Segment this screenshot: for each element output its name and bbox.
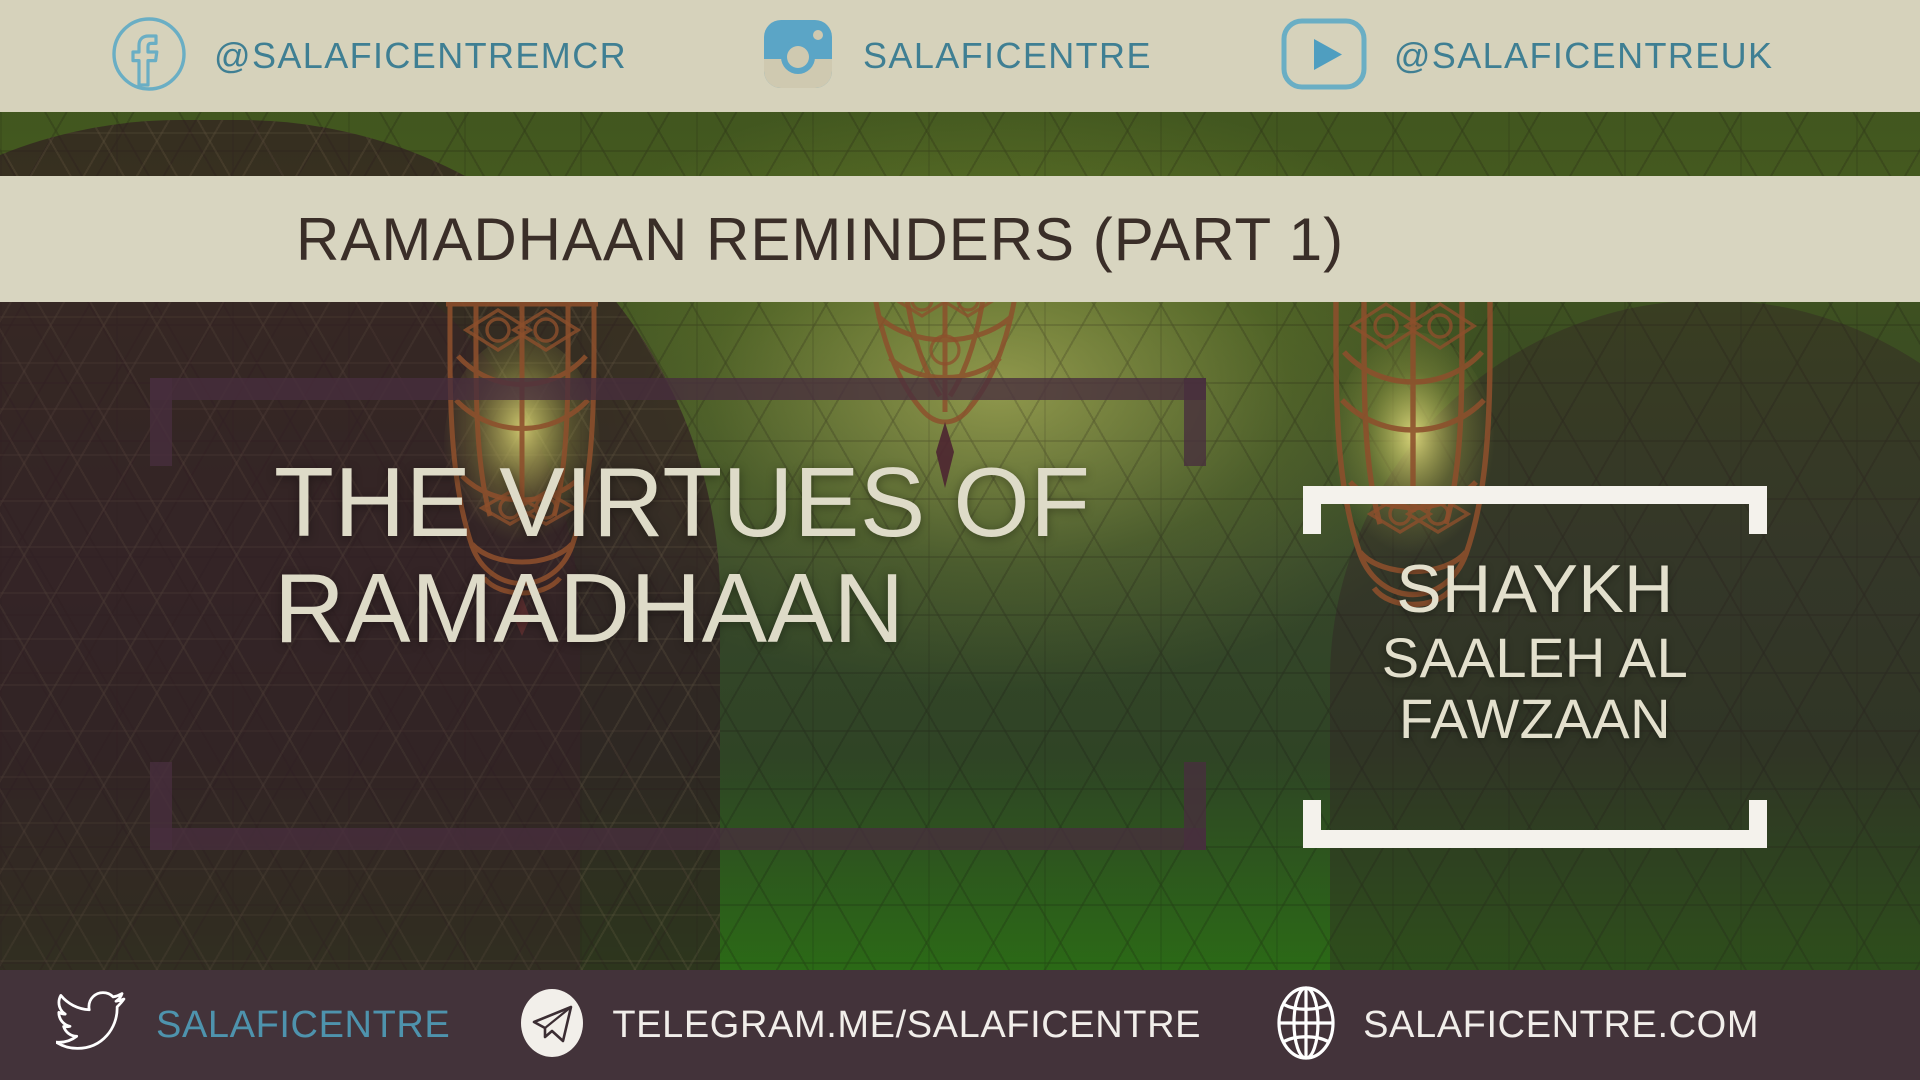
speaker-title-line: SHAYKH — [1303, 552, 1767, 627]
frame-bar-top — [150, 378, 1206, 400]
speaker-name: SHAYKH SAALEH AL FAWZAAN — [1303, 552, 1767, 750]
youtube-icon — [1280, 15, 1368, 98]
series-title-text: RAMADHAAN REMINDERS (PART 1) — [296, 205, 1344, 274]
main-title: THE VIRTUES OF RAMADHAAN — [274, 450, 1194, 662]
poster-canvas: @SALAFICENTREMCR SALAFICENTRE — [0, 0, 1920, 1080]
footer-bar: SALAFICENTRE TELEGRAM.ME/SALAFICENTRE — [0, 970, 1920, 1080]
main-title-line-1: THE VIRTUES OF — [274, 450, 1194, 556]
series-title-band: RAMADHAAN REMINDERS (PART 1) — [0, 176, 1920, 302]
facebook-icon — [110, 15, 188, 98]
website-url: SALAFICENTRE.COM — [1363, 1004, 1759, 1047]
speaker-frame-corner-top-right — [1749, 486, 1767, 534]
speaker-frame-bar-bottom — [1303, 830, 1767, 848]
globe-icon — [1273, 984, 1339, 1067]
frame-corner-bottom-right — [1184, 762, 1206, 850]
speaker-frame-corner-bottom-left — [1303, 800, 1321, 848]
social-header-bar: @SALAFICENTREMCR SALAFICENTRE — [0, 0, 1920, 112]
social-facebook[interactable]: @SALAFICENTREMCR — [110, 15, 627, 98]
social-youtube[interactable]: @SALAFICENTREUK — [1280, 15, 1774, 98]
speaker-frame-corner-top-left — [1303, 486, 1321, 534]
footer-website[interactable]: SALAFICENTRE.COM — [1273, 984, 1759, 1067]
facebook-handle: @SALAFICENTREMCR — [214, 35, 627, 77]
twitter-handle: SALAFICENTRE — [156, 1004, 450, 1047]
instagram-handle: SALAFICENTRE — [863, 35, 1152, 77]
speaker-frame-bar-top — [1303, 486, 1767, 504]
frame-corner-top-left — [150, 378, 172, 466]
telegram-url: TELEGRAM.ME/SALAFICENTRE — [612, 1004, 1201, 1047]
twitter-icon — [56, 989, 132, 1062]
speaker-name-line-1: SAALEH AL — [1303, 627, 1767, 689]
youtube-handle: @SALAFICENTREUK — [1394, 35, 1774, 77]
main-title-line-2: RAMADHAAN — [274, 556, 1194, 662]
speaker-frame-corner-bottom-right — [1749, 800, 1767, 848]
frame-bar-bottom — [150, 828, 1206, 850]
frame-corner-bottom-left — [150, 762, 172, 850]
instagram-icon — [759, 15, 837, 98]
speaker-name-line-2: FAWZAAN — [1303, 688, 1767, 750]
footer-telegram[interactable]: TELEGRAM.ME/SALAFICENTRE — [516, 987, 1201, 1064]
telegram-icon — [516, 987, 588, 1064]
social-instagram[interactable]: SALAFICENTRE — [759, 15, 1152, 98]
footer-twitter[interactable]: SALAFICENTRE — [56, 989, 450, 1062]
